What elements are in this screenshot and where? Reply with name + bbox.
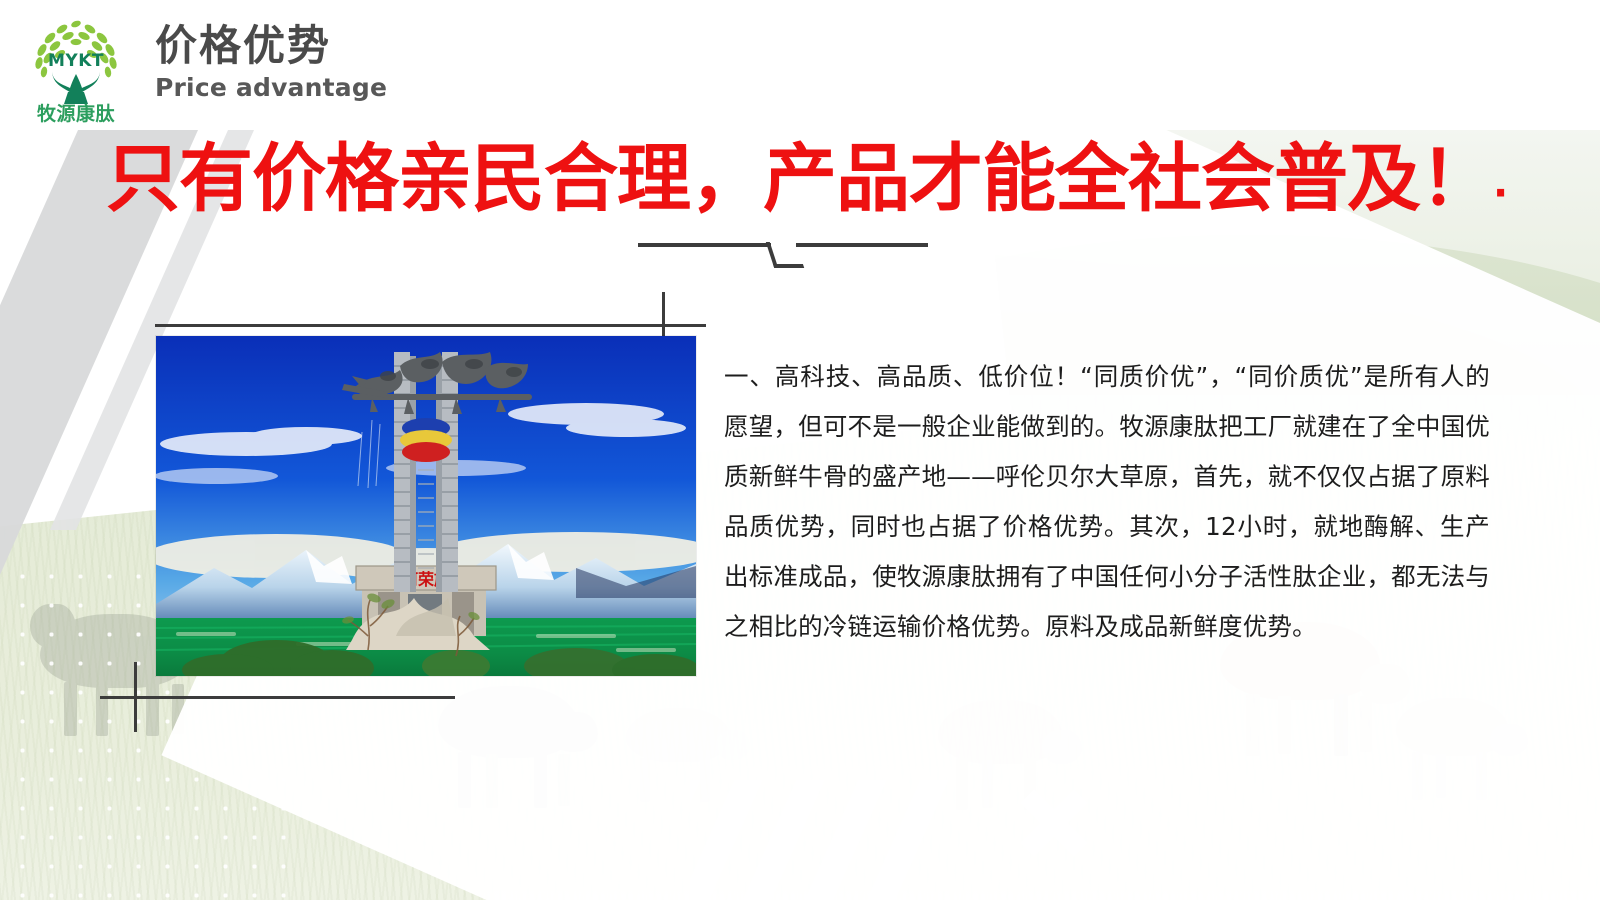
logo-chinese-text: 牧源康肽	[37, 102, 116, 124]
cross-vertical-line	[134, 662, 137, 732]
divider-bar-right	[796, 243, 928, 247]
svg-text:MYKT: MYKT	[48, 51, 104, 71]
title-chinese: 价格优势	[155, 22, 387, 70]
headline-trailing-mark: .	[1493, 160, 1507, 206]
divider-bar-left	[638, 243, 771, 247]
mykt-tree-logo: MYKT 牧源康肽	[22, 8, 130, 124]
cross-horizontal-line	[100, 696, 455, 699]
slide-canvas: MYKT 牧源康肽 价格优势 Price advantage 只有价格亲民合理，…	[0, 0, 1600, 900]
title-english: Price advantage	[155, 72, 387, 104]
x-cross-decoration	[1020, 787, 1092, 859]
headline-text: 只有价格亲民合理，产品才能全社会普及！	[106, 136, 1493, 222]
headline: 只有价格亲民合理，产品才能全社会普及！.	[106, 136, 1506, 226]
body-paragraph: 一、高科技、高品质、低价位！“同质价优”，“同价质优”是所有人的愿望，但可不是一…	[724, 352, 1490, 652]
monument-grassland-photo: 阿荣旗	[156, 336, 696, 676]
section-divider-with-arrow	[638, 236, 928, 262]
page-title: 价格优势 Price advantage	[155, 22, 387, 104]
cross-horizontal-line	[155, 324, 706, 327]
